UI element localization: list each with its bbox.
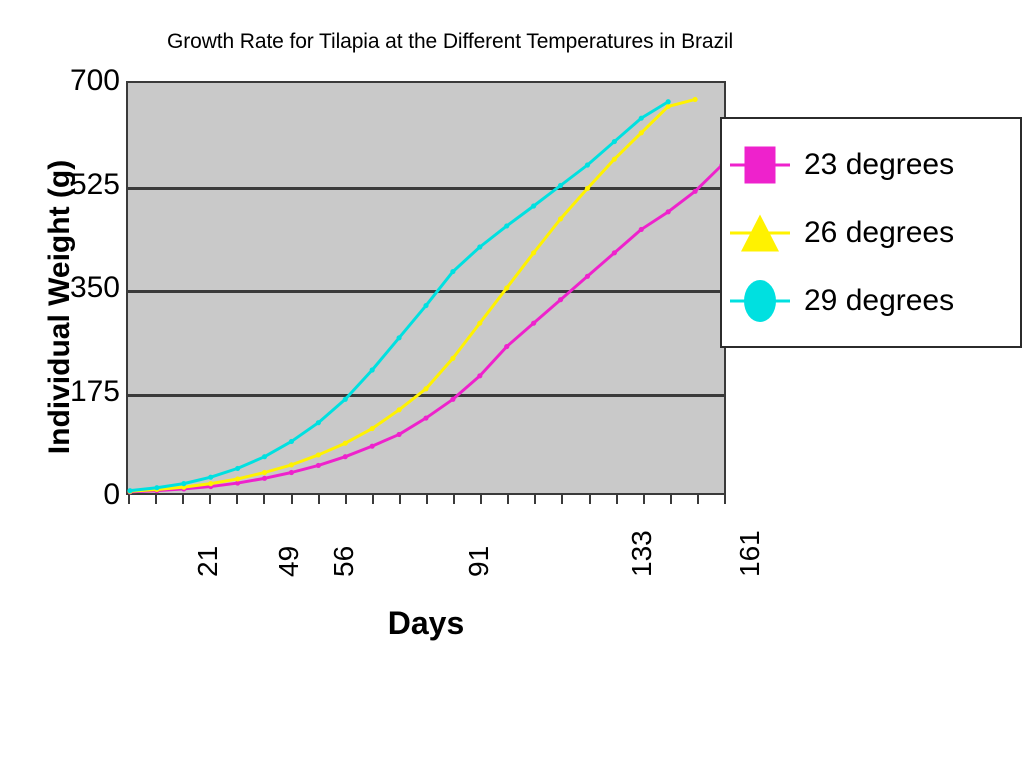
x-axis-tick [589,495,591,504]
x-axis-tick [291,495,293,504]
x-axis-tick-label: 161 [736,530,764,577]
data-point [450,269,455,274]
data-point [477,244,482,249]
data-point [316,452,321,457]
y-axis-tick-label: 525 [40,170,120,200]
data-point [666,99,671,104]
chart-legend: 23 degrees26 degrees29 degrees [720,117,1022,348]
data-point [531,321,536,326]
data-point [558,183,563,188]
x-axis-tick [507,495,509,504]
x-axis-tick [236,495,238,504]
data-point [262,454,267,459]
x-axis-tick [263,495,265,504]
x-axis-tick-label: 21 [194,546,222,577]
chart-title: Growth Rate for Tilapia at the Different… [0,30,900,54]
legend-marker-circle-icon [722,273,798,329]
x-axis-tick-label: 49 [275,546,303,577]
data-point [666,104,671,109]
series-line [130,165,722,492]
legend-item[interactable]: 23 degrees [722,137,1020,193]
data-point [693,97,698,102]
data-point [504,285,509,290]
x-axis-tick [128,495,130,504]
data-point [585,186,590,191]
data-point [127,488,132,493]
plot-lines [128,83,724,493]
legend-marker-triangle-icon [722,205,798,261]
x-axis-tick-label: 56 [330,546,358,577]
data-point [397,407,402,412]
x-axis-tick [155,495,157,504]
data-point [343,397,348,402]
data-point [612,250,617,255]
data-point [450,397,455,402]
x-axis-tick [318,495,320,504]
data-point [235,466,240,471]
legend-item-label: 26 degrees [804,216,954,250]
data-point [370,367,375,372]
x-axis-tick [480,495,482,504]
x-axis-tick-label: 133 [628,530,656,577]
x-axis-tick [426,495,428,504]
data-point [208,481,213,486]
x-axis-tick [453,495,455,504]
legend-glyph-circle-icon [744,280,776,322]
x-axis-tick [670,495,672,504]
data-point [289,462,294,467]
x-axis-tick [534,495,536,504]
data-point [612,157,617,162]
x-axis-tick [561,495,563,504]
data-point [504,223,509,228]
x-axis-ticks [126,495,726,504]
data-point [289,439,294,444]
data-point [343,441,348,446]
data-point [585,162,590,167]
x-axis-tick [724,495,726,504]
data-point [289,470,294,475]
data-point [666,209,671,214]
data-point [504,344,509,349]
y-axis-tick-label: 0 [40,480,120,510]
y-axis-tick-label: 350 [40,273,120,303]
data-point [531,250,536,255]
data-point [154,485,159,490]
data-point [612,139,617,144]
data-point [262,476,267,481]
plot-area [126,81,726,495]
y-axis-tick-label: 175 [40,377,120,407]
x-axis-tick [209,495,211,504]
data-point [370,444,375,449]
data-point [558,297,563,302]
y-axis-tick-labels: 0175350525700 [40,81,120,495]
data-point [531,203,536,208]
x-axis-tick [345,495,347,504]
legend-item[interactable]: 26 degrees [722,205,1020,261]
data-point [477,373,482,378]
legend-item-label: 29 degrees [804,284,954,318]
y-axis-tick-label: 700 [40,66,120,96]
legend-marker-square-icon [722,137,798,193]
x-axis-tick-labels: 21495691133161 [126,505,746,585]
data-point [477,321,482,326]
data-point [423,415,428,420]
x-axis-tick [616,495,618,504]
x-axis-tick [399,495,401,504]
data-point [397,335,402,340]
data-point [639,227,644,232]
x-axis-tick [182,495,184,504]
data-point [316,420,321,425]
data-point [235,476,240,481]
data-point [262,470,267,475]
x-axis-tick [697,495,699,504]
legend-glyph-square-icon [745,147,776,184]
data-point [450,356,455,361]
chart-page: Growth Rate for Tilapia at the Different… [0,0,1024,768]
x-axis-tick [372,495,374,504]
data-point [208,475,213,480]
data-point [693,189,698,194]
data-point [423,303,428,308]
series-line [130,99,695,491]
legend-item-label: 23 degrees [804,148,954,182]
legend-item[interactable]: 29 degrees [722,273,1020,329]
data-point [397,432,402,437]
x-axis-tick-label: 91 [465,546,493,577]
data-point [639,116,644,121]
data-point [181,481,186,486]
data-point [343,454,348,459]
data-point [558,216,563,221]
data-point [585,274,590,279]
data-point [423,386,428,391]
data-point [370,426,375,431]
x-axis-tick [643,495,645,504]
data-point [639,130,644,135]
data-point [316,463,321,468]
legend-glyph-triangle-icon [741,215,779,252]
x-axis-title: Days [126,605,726,642]
